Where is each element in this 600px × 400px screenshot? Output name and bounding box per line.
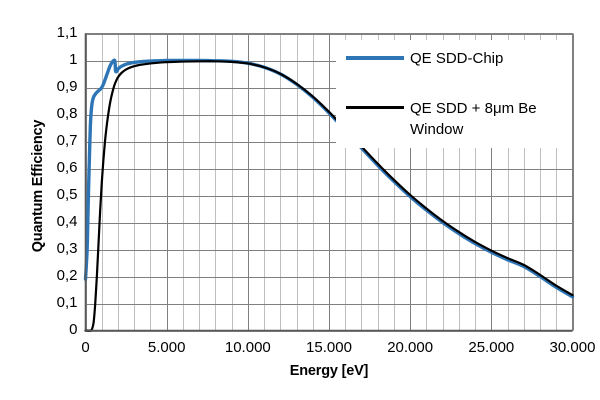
x-tick-label: 30.000 <box>523 339 600 356</box>
y-tick-label: 1 <box>38 51 78 68</box>
y-tick-label: 0,9 <box>38 78 78 95</box>
y-tick-label: 0,3 <box>38 240 78 257</box>
legend-item-qe-sdd-chip: QE SDD-Chip <box>346 48 566 69</box>
chart-container: QE SDD-Chip QE SDD + 8μm Be Window Quant… <box>0 0 600 400</box>
y-tick-label: 0,5 <box>38 186 78 203</box>
y-tick-label: 1,1 <box>38 24 78 41</box>
y-tick-label: 0,2 <box>38 267 78 284</box>
y-tick-label: 0 <box>38 321 78 338</box>
legend-color-swatch-blue <box>346 56 404 60</box>
y-tick-label: 0,7 <box>38 132 78 149</box>
legend-color-swatch-black <box>346 106 404 109</box>
y-tick-label: 0,4 <box>38 213 78 230</box>
y-tick-label: 0,8 <box>38 105 78 122</box>
legend-label-qe-sdd-be-window: QE SDD + 8μm Be Window <box>410 98 566 140</box>
chart-legend: QE SDD-Chip QE SDD + 8μm Be Window <box>336 40 572 148</box>
legend-label-qe-sdd-chip: QE SDD-Chip <box>410 48 566 69</box>
y-tick-label: 0,6 <box>38 159 78 176</box>
legend-item-qe-sdd-be-window: QE SDD + 8μm Be Window <box>346 98 566 140</box>
y-tick-label: 0,1 <box>38 294 78 311</box>
x-axis-title: Energy [eV] <box>85 363 573 379</box>
